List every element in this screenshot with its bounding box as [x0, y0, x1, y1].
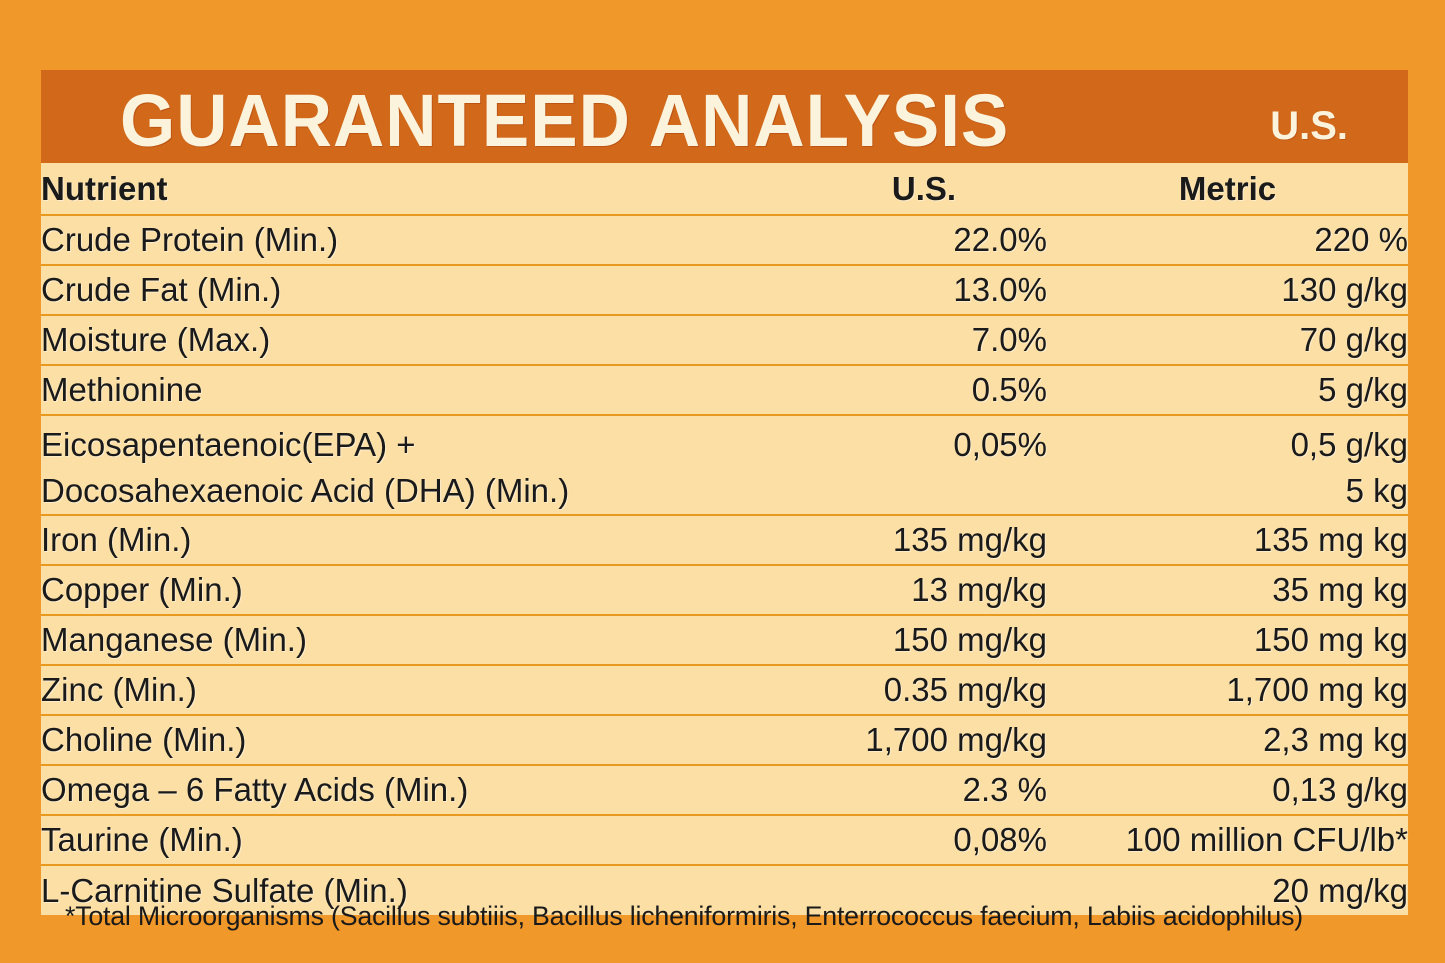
nutrient-value-metric: 5 g/kg	[1047, 365, 1408, 415]
nutrient-value-us: 13 mg/kg	[801, 565, 1047, 615]
nutrient-value-metric: 1,700 mg kg	[1047, 665, 1408, 715]
nutrient-name: Crude Fat (Min.)	[41, 265, 801, 315]
nutrient-value-metric: 100 million CFU/lb*	[1047, 815, 1408, 865]
table-header-row: Nutrient U.S. Metric	[41, 163, 1408, 215]
nutrient-name: Eicosapentaenoic(EPA) + Docosahexaenoic …	[41, 415, 801, 515]
table-row: Copper (Min.) 13 mg/kg 35 mg kg	[41, 565, 1408, 615]
table-row: Crude Protein (Min.) 22.0% 220 %	[41, 215, 1408, 265]
nutrient-value-us: 150 mg/kg	[801, 615, 1047, 665]
nutrient-value-metric: 35 mg kg	[1047, 565, 1408, 615]
nutrient-value-us: 135 mg/kg	[801, 515, 1047, 565]
table-row: Crude Fat (Min.) 13.0% 130 g/kg	[41, 265, 1408, 315]
guaranteed-analysis-table: Nutrient U.S. Metric Crude Protein (Min.…	[41, 163, 1408, 915]
nutrient-name: Choline (Min.)	[41, 715, 801, 765]
nutrient-name-line1: Eicosapentaenoic(EPA) +	[41, 422, 801, 468]
table-row-epa-dha: Eicosapentaenoic(EPA) + Docosahexaenoic …	[41, 415, 1408, 515]
nutrient-value-us: 0,08%	[801, 815, 1047, 865]
nutrient-value-us: 13.0%	[801, 265, 1047, 315]
table-row: Iron (Min.) 135 mg/kg 135 mg kg	[41, 515, 1408, 565]
nutrient-name: Copper (Min.)	[41, 565, 801, 615]
guaranteed-analysis-label: GUARANTEED ANALYSIS U.S. Nutrient U.S. M…	[41, 70, 1408, 915]
table-row: Taurine (Min.) 0,08% 100 million CFU/lb*	[41, 815, 1408, 865]
nutrient-value-metric: 0,13 g/kg	[1047, 765, 1408, 815]
page-title: GUARANTEED ANALYSIS	[120, 87, 1009, 155]
nutrient-name: Crude Protein (Min.)	[41, 215, 801, 265]
nutrient-value-metric: 2,3 mg kg	[1047, 715, 1408, 765]
nutrient-value-metric: 135 mg kg	[1047, 515, 1408, 565]
nutrient-name: Iron (Min.)	[41, 515, 801, 565]
nutrient-value-us: 0.5%	[801, 365, 1047, 415]
table-row: Zinc (Min.) 0.35 mg/kg 1,700 mg kg	[41, 665, 1408, 715]
nutrient-value-us: 7.0%	[801, 315, 1047, 365]
nutrient-value-metric: 150 mg kg	[1047, 615, 1408, 665]
nutrient-value-us: 22.0%	[801, 215, 1047, 265]
nutrient-value-metric-line1: 0,5 g/kg	[1047, 422, 1408, 468]
nutrient-name: Manganese (Min.)	[41, 615, 801, 665]
nutrient-value-metric: 70 g/kg	[1047, 315, 1408, 365]
nutrient-name: Methionine	[41, 365, 801, 415]
nutrient-value-us-line1: 0,05%	[801, 422, 1047, 468]
nutrient-value-metric: 220 %	[1047, 215, 1408, 265]
footnote-text: *Total Microorganisms (Sacillus subtiiis…	[65, 902, 1392, 932]
nutrient-name: Zinc (Min.)	[41, 665, 801, 715]
nutrient-value-us: 0,05%	[801, 415, 1047, 515]
column-header-metric: Metric	[1047, 163, 1408, 215]
column-header-us: U.S.	[801, 163, 1047, 215]
table-row: Choline (Min.) 1,700 mg/kg 2,3 mg kg	[41, 715, 1408, 765]
nutrient-value-us: 0.35 mg/kg	[801, 665, 1047, 715]
nutrient-name-line2: Docosahexaenoic Acid (DHA) (Min.)	[41, 468, 801, 514]
table-row: Manganese (Min.) 150 mg/kg 150 mg kg	[41, 615, 1408, 665]
nutrient-value-metric-line2: 5 kg	[1047, 468, 1408, 514]
table-row: Omega – 6 Fatty Acids (Min.) 2.3 % 0,13 …	[41, 765, 1408, 815]
table-row: Moisture (Max.) 7.0% 70 g/kg	[41, 315, 1408, 365]
table-row: Methionine 0.5% 5 g/kg	[41, 365, 1408, 415]
header-unit-label: U.S.	[1270, 106, 1390, 155]
nutrient-value-metric: 130 g/kg	[1047, 265, 1408, 315]
nutrient-value-us: 1,700 mg/kg	[801, 715, 1047, 765]
nutrient-value-metric: 0,5 g/kg 5 kg	[1047, 415, 1408, 515]
nutrient-name: Omega – 6 Fatty Acids (Min.)	[41, 765, 801, 815]
nutrient-name: Moisture (Max.)	[41, 315, 801, 365]
column-header-nutrient: Nutrient	[41, 163, 801, 215]
nutrient-name: Taurine (Min.)	[41, 815, 801, 865]
nutrient-value-us: 2.3 %	[801, 765, 1047, 815]
label-header-band: GUARANTEED ANALYSIS U.S.	[41, 70, 1408, 163]
